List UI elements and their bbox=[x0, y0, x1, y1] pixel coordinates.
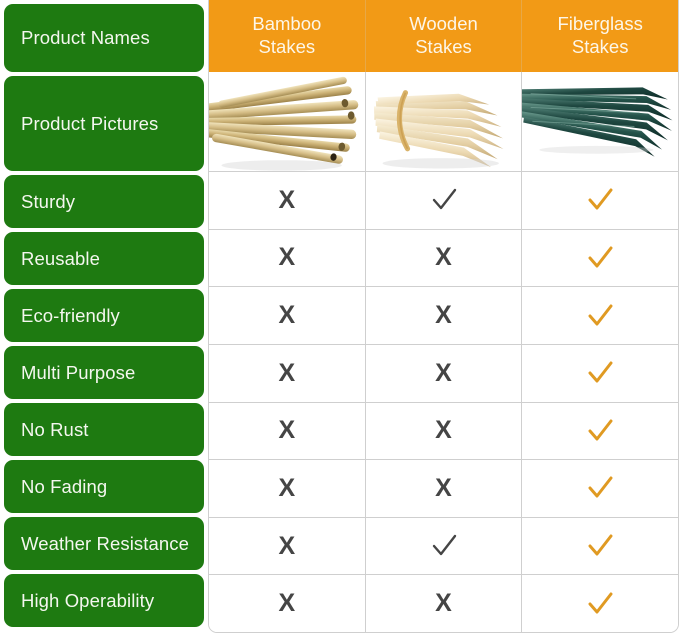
product-picture-cell-fiberglass bbox=[522, 72, 678, 171]
column-header-line1: Wooden bbox=[409, 13, 478, 36]
row-label-multi-purpose: Multi Purpose bbox=[4, 346, 204, 399]
row-label-text: Sturdy bbox=[21, 191, 75, 212]
check-orange-icon bbox=[585, 185, 615, 215]
product-comparison-table: Product Names Product Pictures Sturdy Re… bbox=[0, 0, 679, 633]
value-cell-wooden bbox=[366, 518, 523, 575]
product-picture-cell-bamboo bbox=[209, 72, 366, 171]
row-label-high-operability: High Operability bbox=[4, 574, 204, 627]
row-label-product-pictures-text: Product Pictures bbox=[21, 113, 158, 134]
row-label-no-fading: No Fading bbox=[4, 460, 204, 513]
wooden-stakes-image bbox=[366, 72, 522, 171]
product-picture-cell-wooden bbox=[366, 72, 523, 171]
check-orange-icon bbox=[585, 473, 615, 503]
value-row-reusable: X X bbox=[209, 230, 678, 288]
x-icon: X bbox=[278, 591, 295, 616]
value-row-high-operability: X X bbox=[209, 575, 678, 632]
check-orange-icon bbox=[585, 589, 615, 619]
x-icon: X bbox=[278, 534, 295, 559]
row-label-text: No Rust bbox=[21, 419, 89, 440]
value-cell-wooden: X bbox=[366, 287, 523, 344]
check-orange-icon bbox=[585, 243, 615, 273]
check-orange-icon bbox=[585, 301, 615, 331]
value-cell-wooden: X bbox=[366, 575, 523, 632]
x-icon: X bbox=[435, 245, 452, 270]
product-pictures-row bbox=[209, 72, 678, 172]
product-data-columns: Bamboo Stakes Wooden Stakes Fiberglass S… bbox=[208, 0, 679, 633]
value-cell-fiberglass bbox=[522, 518, 678, 575]
x-icon: X bbox=[278, 245, 295, 270]
row-label-header-text: Product Names bbox=[21, 27, 150, 48]
value-cell-wooden: X bbox=[366, 403, 523, 460]
row-label-text: Multi Purpose bbox=[21, 362, 135, 383]
row-label-text: Weather Resistance bbox=[21, 533, 189, 554]
column-header-row: Bamboo Stakes Wooden Stakes Fiberglass S… bbox=[209, 0, 678, 72]
row-label-eco-friendly: Eco-friendly bbox=[4, 289, 204, 342]
value-cell-bamboo: X bbox=[209, 518, 366, 575]
check-gray-icon bbox=[429, 185, 459, 215]
column-header-line1: Bamboo bbox=[252, 13, 321, 36]
comparison-table-page: Product Names Product Pictures Sturdy Re… bbox=[0, 0, 679, 633]
fiberglass-stakes-image bbox=[522, 72, 678, 158]
value-cell-bamboo: X bbox=[209, 287, 366, 344]
value-cell-bamboo: X bbox=[209, 172, 366, 229]
value-row-weather-resistance: X bbox=[209, 518, 678, 576]
column-header-line1: Fiberglass bbox=[558, 13, 643, 36]
value-cell-wooden: X bbox=[366, 230, 523, 287]
row-label-product-pictures: Product Pictures bbox=[4, 76, 204, 171]
row-label-text: No Fading bbox=[21, 476, 107, 497]
value-cell-fiberglass bbox=[522, 172, 678, 229]
x-icon: X bbox=[435, 361, 452, 386]
value-cell-fiberglass bbox=[522, 230, 678, 287]
column-header-line2: Stakes bbox=[259, 36, 316, 59]
value-row-sturdy: X bbox=[209, 172, 678, 230]
value-row-multi-purpose: X X bbox=[209, 345, 678, 403]
value-row-no-fading: X X bbox=[209, 460, 678, 518]
row-label-column: Product Names Product Pictures Sturdy Re… bbox=[0, 0, 208, 633]
x-icon: X bbox=[435, 476, 452, 501]
value-row-eco-friendly: X X bbox=[209, 287, 678, 345]
value-cell-bamboo: X bbox=[209, 460, 366, 517]
x-icon: X bbox=[278, 476, 295, 501]
row-label-header-cell: Product Names bbox=[4, 4, 204, 72]
value-cell-wooden: X bbox=[366, 345, 523, 402]
column-header-bamboo-stakes: Bamboo Stakes bbox=[209, 0, 366, 72]
check-gray-icon bbox=[429, 531, 459, 561]
value-cell-fiberglass bbox=[522, 403, 678, 460]
row-label-no-rust: No Rust bbox=[4, 403, 204, 456]
value-cell-bamboo: X bbox=[209, 230, 366, 287]
row-label-weather-resistance: Weather Resistance bbox=[4, 517, 204, 570]
x-icon: X bbox=[278, 361, 295, 386]
value-cell-wooden bbox=[366, 172, 523, 229]
x-icon: X bbox=[435, 303, 452, 328]
value-cell-wooden: X bbox=[366, 460, 523, 517]
value-row-no-rust: X X bbox=[209, 403, 678, 461]
x-icon: X bbox=[278, 303, 295, 328]
value-cell-fiberglass bbox=[522, 345, 678, 402]
check-orange-icon bbox=[585, 416, 615, 446]
value-cell-bamboo: X bbox=[209, 345, 366, 402]
value-cell-bamboo: X bbox=[209, 575, 366, 632]
check-orange-icon bbox=[585, 358, 615, 388]
value-cell-fiberglass bbox=[522, 287, 678, 344]
column-header-line2: Stakes bbox=[415, 36, 472, 59]
x-icon: X bbox=[435, 418, 452, 443]
row-label-text: Eco-friendly bbox=[21, 305, 120, 326]
column-header-wooden-stakes: Wooden Stakes bbox=[366, 0, 523, 72]
column-header-line2: Stakes bbox=[572, 36, 629, 59]
row-label-text: Reusable bbox=[21, 248, 100, 269]
x-icon: X bbox=[278, 418, 295, 443]
value-cell-fiberglass bbox=[522, 460, 678, 517]
row-label-reusable: Reusable bbox=[4, 232, 204, 285]
row-label-text: High Operability bbox=[21, 590, 154, 611]
row-label-sturdy: Sturdy bbox=[4, 175, 204, 228]
value-cell-bamboo: X bbox=[209, 403, 366, 460]
column-header-fiberglass-stakes: Fiberglass Stakes bbox=[522, 0, 678, 72]
bamboo-poles-image bbox=[209, 72, 365, 171]
x-icon: X bbox=[435, 591, 452, 616]
check-orange-icon bbox=[585, 531, 615, 561]
value-cell-fiberglass bbox=[522, 575, 678, 632]
x-icon: X bbox=[278, 188, 295, 213]
